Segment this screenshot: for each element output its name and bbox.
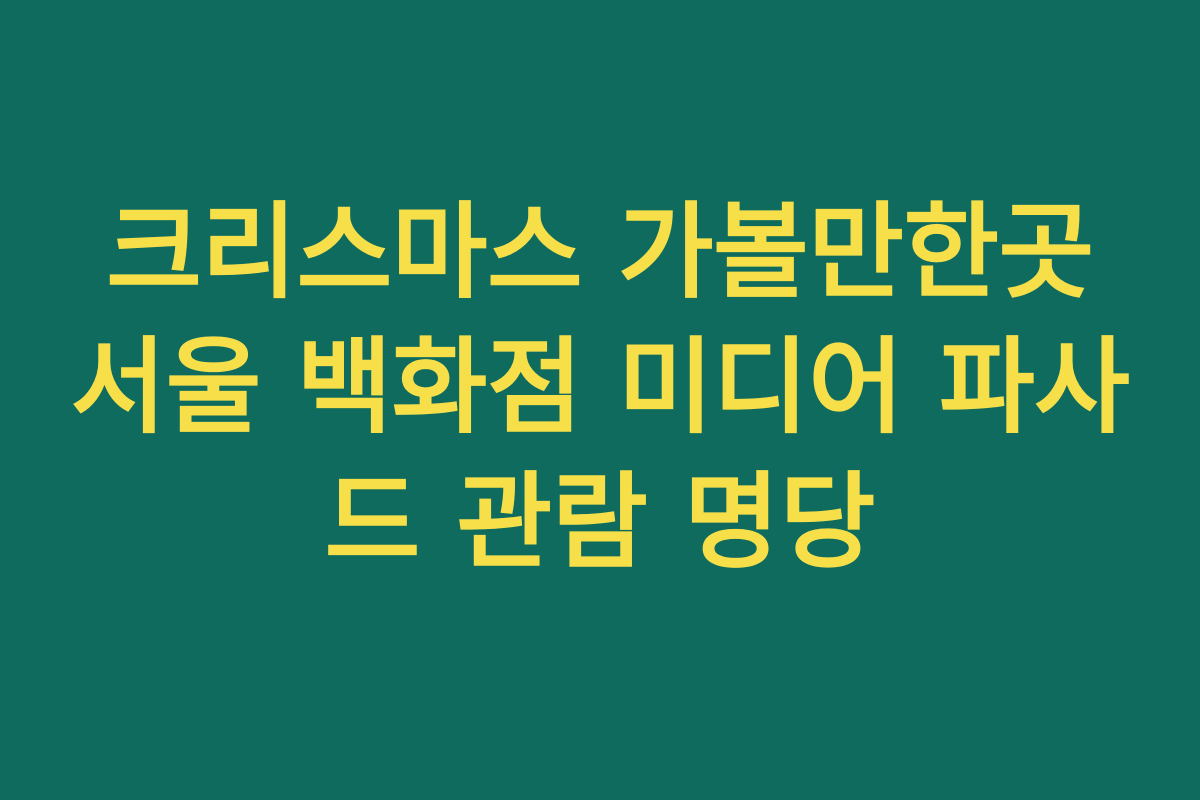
headline-block: 크리스마스 가볼만한곳 서울 백화점 미디어 파사 드 관람 명당 <box>70 185 1130 590</box>
headline-line-2: 서울 백화점 미디어 파사 <box>70 320 1130 455</box>
headline-line-1: 크리스마스 가볼만한곳 <box>70 185 1130 320</box>
headline-line-3: 드 관람 명당 <box>70 455 1130 590</box>
thumbnail-canvas: 크리스마스 가볼만한곳 서울 백화점 미디어 파사 드 관람 명당 <box>0 0 1200 800</box>
